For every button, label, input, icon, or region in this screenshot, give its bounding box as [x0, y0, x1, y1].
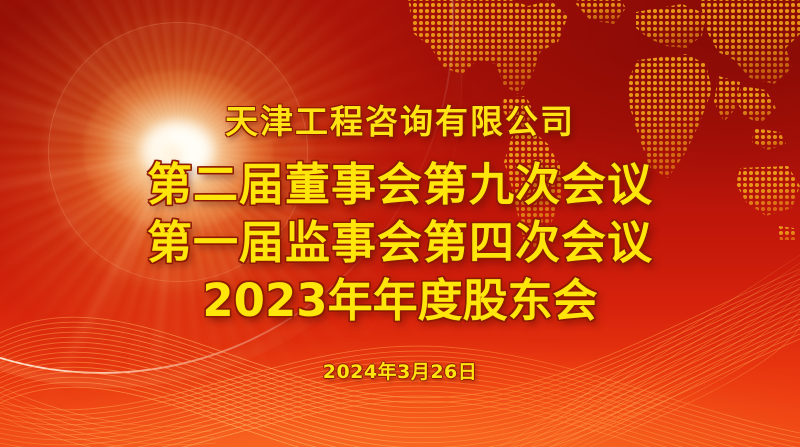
headline-line-board-meeting: 第二届董事会第九次会议: [147, 157, 653, 213]
company-name: 天津工程咨询有限公司: [225, 95, 575, 143]
headline-line-supervisor-meeting: 第一届监事会第四次会议: [147, 215, 653, 271]
conference-backdrop: 天津工程咨询有限公司 第二届董事会第九次会议 第一届监事会第四次会议 2023年…: [0, 0, 800, 447]
headline-group: 第二届董事会第九次会议 第一届监事会第四次会议 2023年年度股东会: [147, 157, 653, 328]
event-date: 2024年3月26日: [323, 357, 478, 384]
headline-line-shareholders-meeting: 2023年年度股东会: [202, 273, 597, 329]
banner-text-block: 天津工程咨询有限公司 第二届董事会第九次会议 第一届监事会第四次会议 2023年…: [0, 0, 800, 447]
